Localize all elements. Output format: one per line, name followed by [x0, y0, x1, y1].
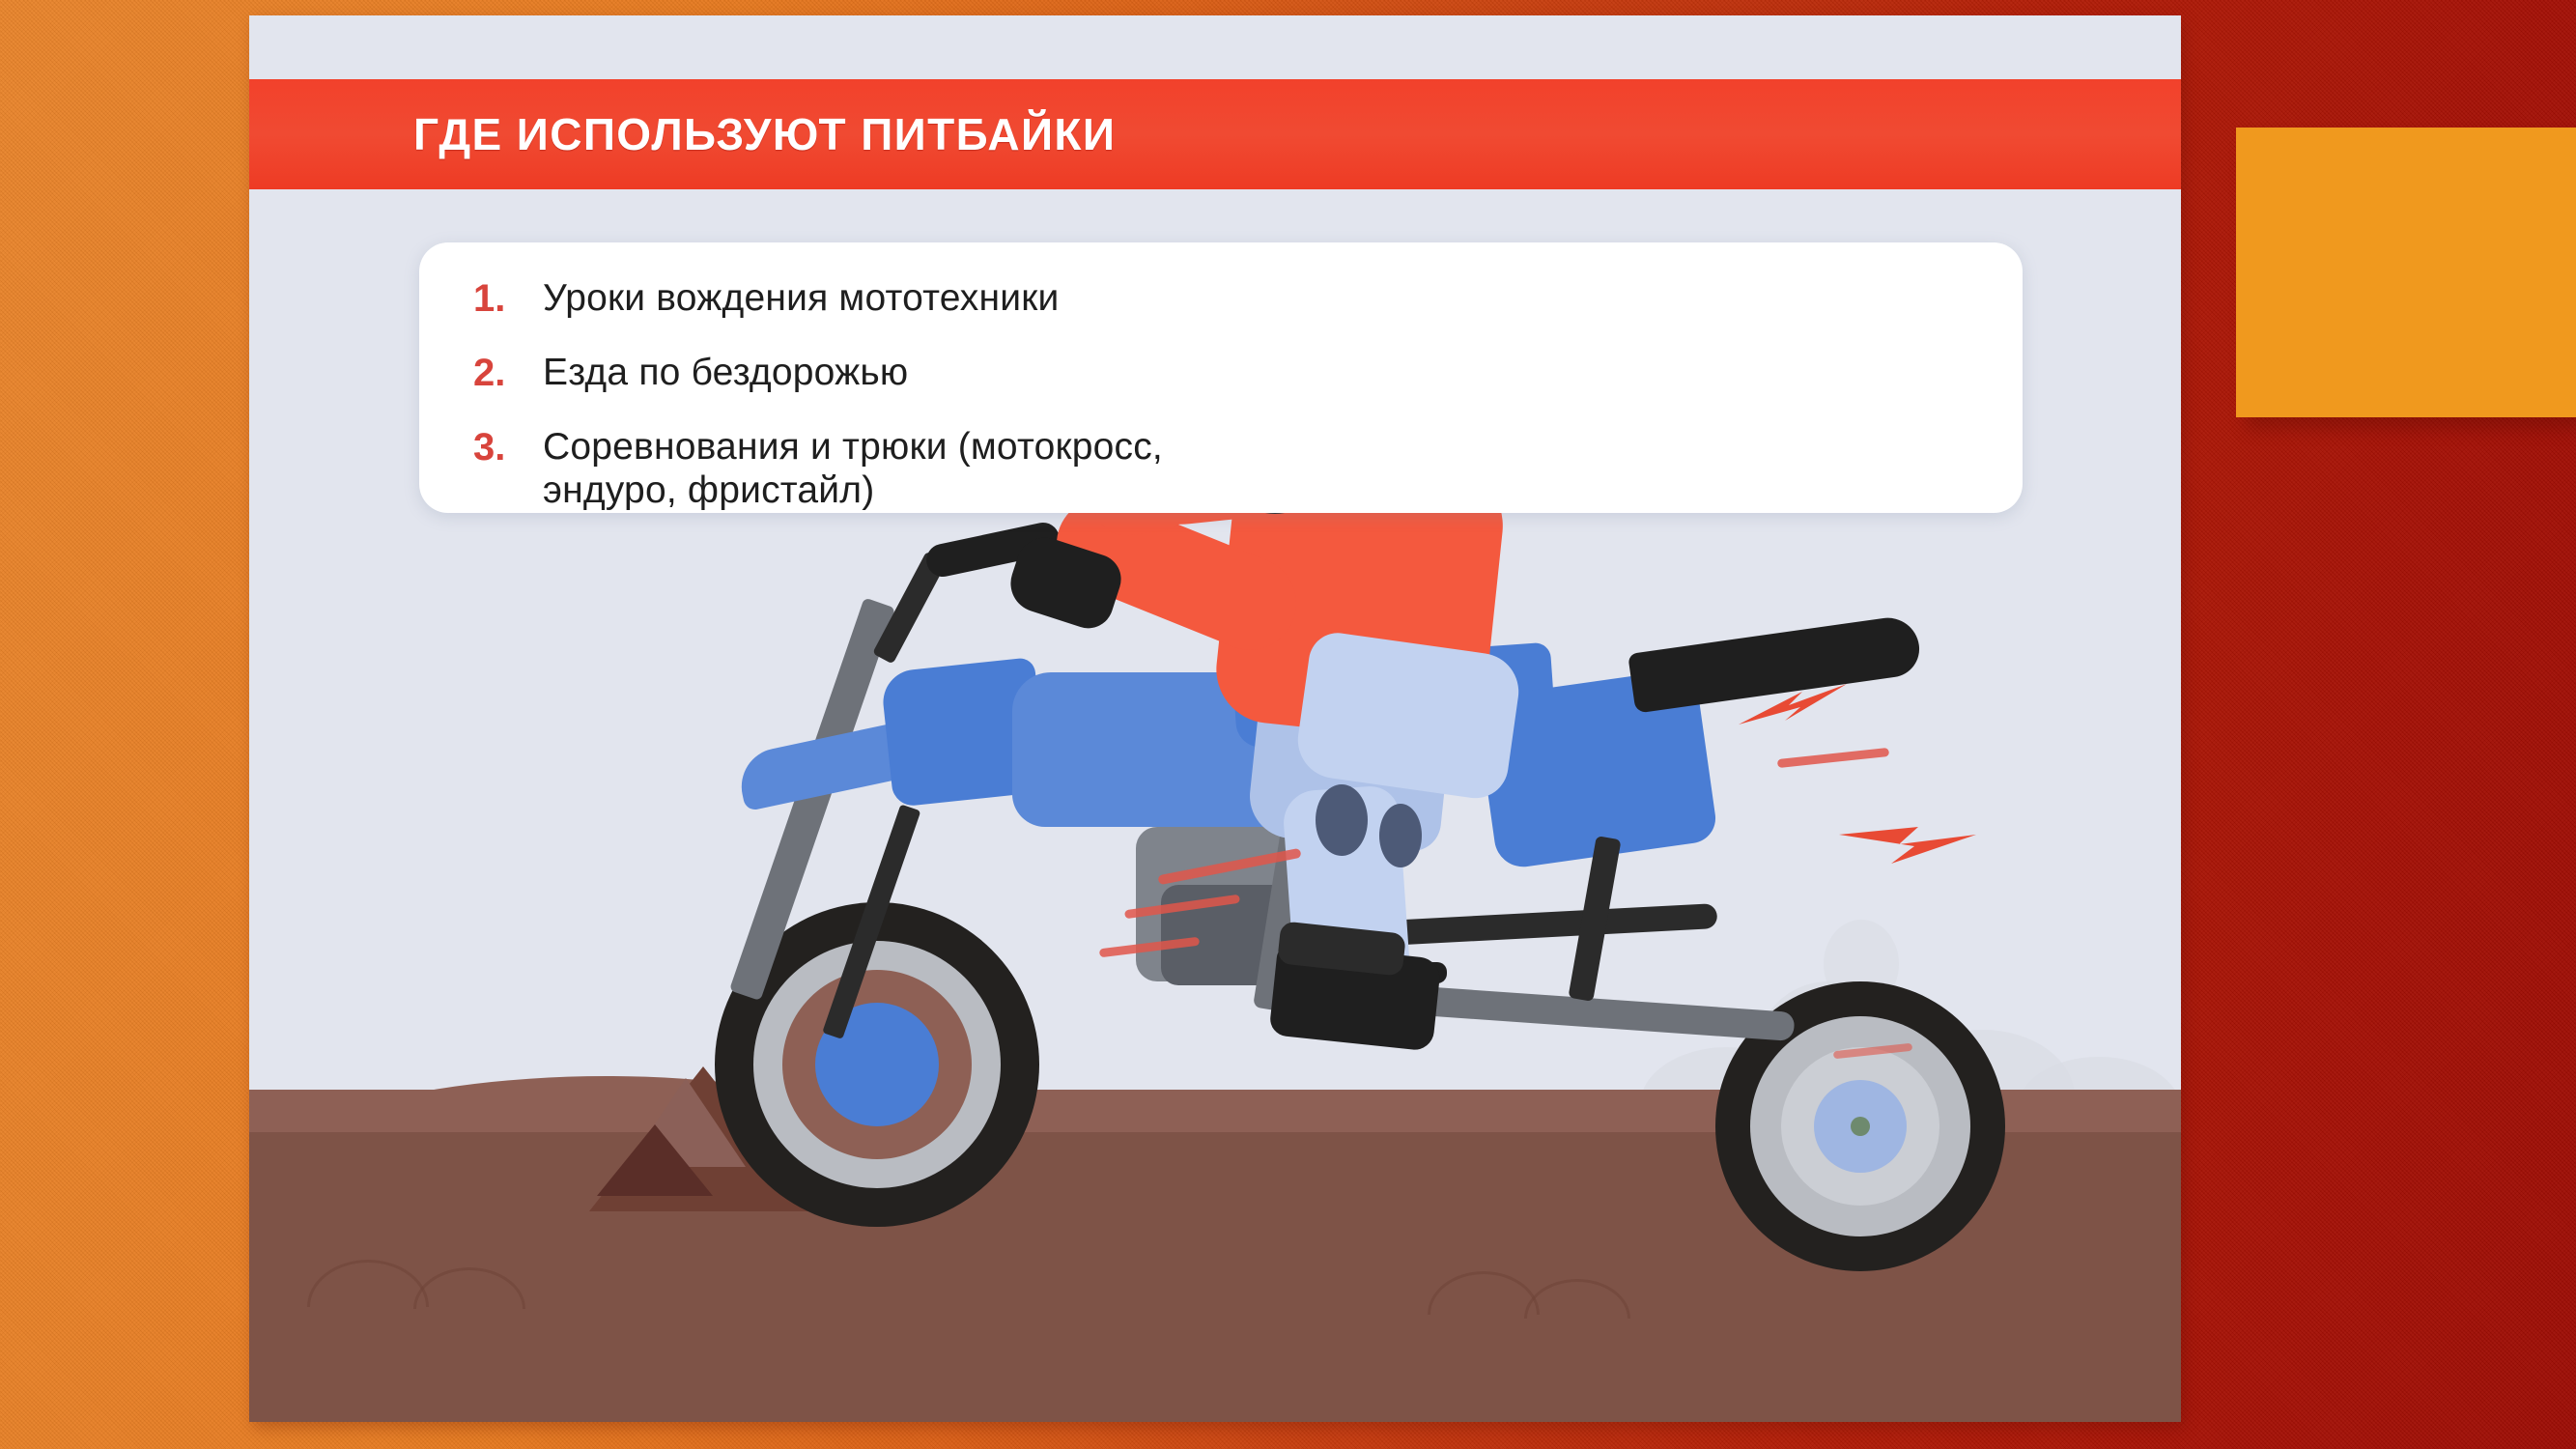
- list-item-text: Езда по бездорожью: [543, 352, 908, 395]
- list-item: 3. Соревнования и трюки (мотокросс, энду…: [419, 426, 2023, 513]
- rock-shadow: [597, 1124, 713, 1196]
- list-item-number: 3.: [473, 426, 543, 469]
- dirt-bike-illustration: [249, 15, 2181, 1422]
- list-item-line-2: эндуро, фристайл): [543, 469, 1163, 513]
- lightning-bolt-icon: [1735, 678, 1851, 736]
- rear-wheel-axle: [1851, 1117, 1870, 1136]
- knee-pad: [1379, 804, 1422, 867]
- accent-block: [2236, 128, 2576, 417]
- title-banner: ГДЕ ИСПОЛЬЗУЮТ ПИТБАЙКИ: [249, 79, 2181, 189]
- slide-image: ГДЕ ИСПОЛЬЗУЮТ ПИТБАЙКИ 1. Уроки вождени…: [249, 15, 2181, 1422]
- list-item-line-1: Езда по бездорожью: [543, 352, 908, 393]
- list-item-text: Уроки вождения мототехники: [543, 277, 1059, 321]
- list-item-line-1: Уроки вождения мототехники: [543, 277, 1059, 319]
- list-item: 1. Уроки вождения мототехники: [419, 277, 2023, 321]
- slide-title: ГДЕ ИСПОЛЬЗУЮТ ПИТБАЙКИ: [413, 108, 1116, 160]
- knee-pad: [1316, 784, 1368, 856]
- rider-hip: [1293, 629, 1524, 802]
- list-item-number: 2.: [473, 352, 543, 395]
- list-item-text: Соревнования и трюки (мотокросс, эндуро,…: [543, 426, 1163, 513]
- list-item: 2. Езда по бездорожью: [419, 352, 2023, 395]
- list-item-line-1: Соревнования и трюки (мотокросс,: [543, 426, 1163, 468]
- list-item-number: 1.: [473, 277, 543, 321]
- lightning-bolt-icon: [1835, 806, 1980, 873]
- speed-line: [1777, 748, 1889, 768]
- list-card: 1. Уроки вождения мототехники 2. Езда по…: [419, 242, 2023, 513]
